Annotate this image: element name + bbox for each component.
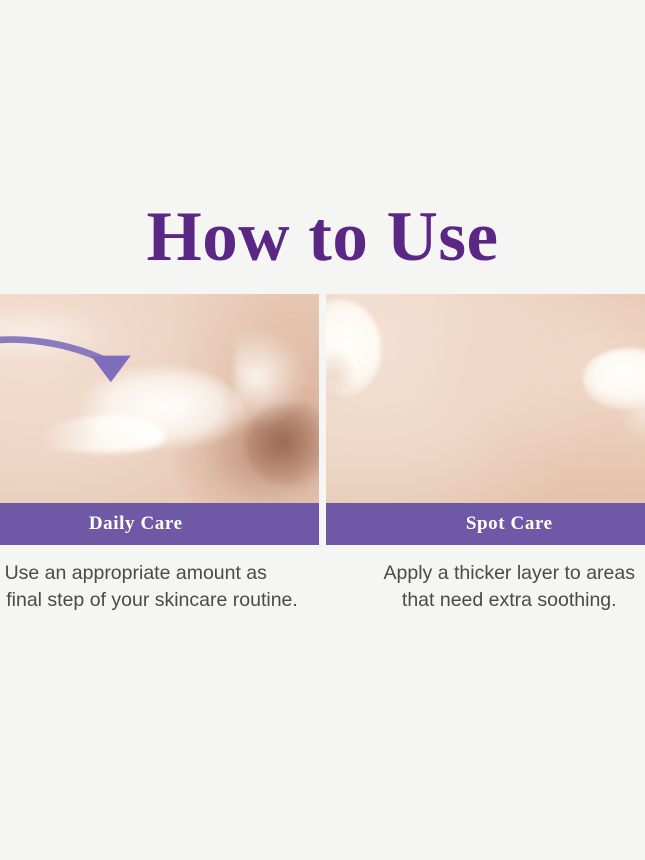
page-title: How to Use xyxy=(0,196,645,278)
how-to-use-graphic: How to Use Daily Care xyxy=(0,0,645,860)
instruction-strip: Daily Care Spot Care Use an appropriate … xyxy=(0,294,645,624)
panel-label-daily-care: Daily Care xyxy=(0,503,319,545)
cream-dollop-glow xyxy=(627,373,645,444)
panel-spot-care: Spot Care xyxy=(326,294,645,545)
caption-line: Use an appropriate amount as xyxy=(0,560,319,587)
curved-arrow-icon xyxy=(0,294,319,503)
photo-spot-care xyxy=(326,294,645,503)
panel-label-spot-care: Spot Care xyxy=(326,503,645,545)
caption-line: Apply a thicker layer to areas xyxy=(326,560,645,587)
caption-daily-care: Use an appropriate amount as the final s… xyxy=(0,556,319,620)
panel-row: Daily Care Spot Care xyxy=(0,294,645,545)
caption-line: the final step of your skincare routine. xyxy=(0,587,319,614)
photo-daily-care xyxy=(0,294,319,503)
fingertip-shadow xyxy=(326,348,355,402)
caption-row: Use an appropriate amount as the final s… xyxy=(0,556,645,620)
caption-spot-care: Apply a thicker layer to areas that need… xyxy=(326,556,645,620)
panel-daily-care: Daily Care xyxy=(0,294,319,545)
caption-line: that need extra soothing. xyxy=(326,587,645,614)
